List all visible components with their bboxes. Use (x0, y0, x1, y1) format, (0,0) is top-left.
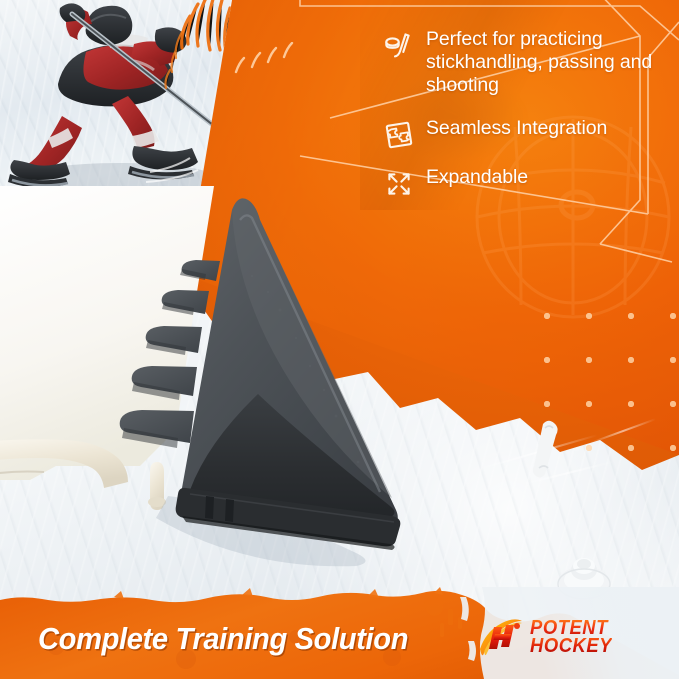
feature-item-expandable: Expandable (384, 166, 674, 199)
feature-item-practicing: Perfect for practicing stickhandling, pa… (384, 28, 674, 97)
product-marketing-image: Perfect for practicing stickhandling, pa… (0, 0, 679, 679)
logo-line-hockey: Hockey (530, 637, 612, 655)
logo-wordmark: Potent Hockey (530, 619, 619, 656)
puzzle-pieces-icon (384, 120, 414, 150)
feature-item-integration: Seamless Integration (384, 117, 674, 150)
potent-hockey-logo: Potent Hockey (478, 617, 619, 657)
potent-hockey-h-swoosh-icon (478, 617, 524, 657)
feature-label: Seamless Integration (426, 117, 607, 140)
page-title: Complete Training Solution (38, 621, 408, 657)
hockey-stick-puck-icon (384, 31, 414, 61)
feature-label: Perfect for practicing stickhandling, pa… (426, 28, 674, 97)
feature-label: Expandable (426, 166, 528, 189)
feature-list: Perfect for practicing stickhandling, pa… (384, 28, 674, 213)
expand-arrows-icon (384, 169, 414, 199)
